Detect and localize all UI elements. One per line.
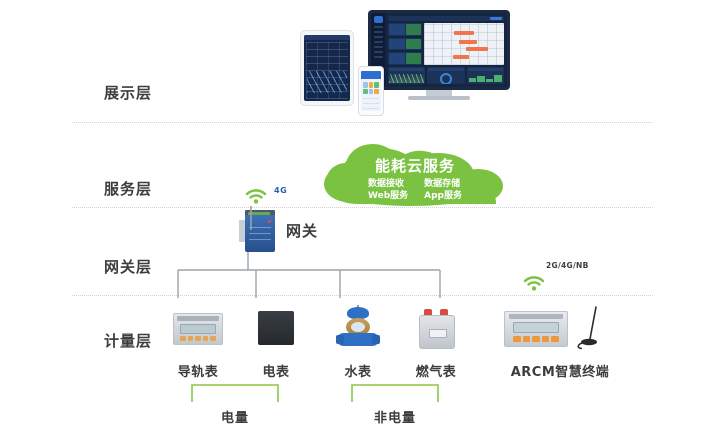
arcm-display [513,322,559,333]
gas-meter-icon [398,305,474,357]
dashboard-stat-cards [388,23,422,65]
meter-gas: 燃气表 [398,305,474,380]
arcm-device-body [504,311,568,347]
phone-icon-grid [363,82,379,94]
gateway-label: 网关 [286,220,318,241]
nav-line [374,46,383,48]
widget-header [389,68,424,71]
layer-divider-display-service [72,122,653,123]
monitor-device [368,10,510,100]
stat-tile [389,39,405,50]
meter-electricity: 电表 [238,305,314,380]
wifi-signal-icon [244,186,268,204]
arcm-terminal-strip [509,314,563,319]
stat-tile [406,53,422,64]
app-tile [363,89,368,95]
gas-body-group [419,309,453,347]
app-tile [374,82,379,88]
widget-gauge [427,67,464,84]
stat-tile [406,24,422,35]
stat-card [388,23,422,36]
phone-body [358,66,384,116]
nav-line [374,36,383,38]
arcm-buttons [513,336,559,342]
widget-header [468,68,503,71]
gateway-cloud-link [248,206,254,230]
map-marker [459,40,477,44]
nav-line [374,56,383,58]
meter-label-electricity: 电表 [238,361,314,380]
meter-din-rail: 导轨表 [160,305,236,380]
antenna-icon [576,305,606,351]
gateway-meter-connector-tree [170,252,470,298]
cloud-column-left: 数据接收 Web服务 [368,178,408,202]
category-label-non-electric: 非电量 [350,407,440,426]
gateway-uplink-tag: 4G [274,186,287,195]
din-buttons [180,336,216,341]
dashboard-topbar [388,16,504,21]
wifi-signal-icon [522,273,546,291]
phone-screen [361,71,381,111]
dashboard-logo-icon [374,16,383,23]
dashboard-body [385,13,507,87]
widget-header [428,68,463,71]
dashboard-map-panel [424,23,504,65]
panel-body [258,311,294,345]
meter-label-gas: 燃气表 [398,361,474,380]
arcm-terminal-label: ARCM智慧终端 [500,361,620,380]
nav-line [374,51,383,53]
gas-housing [419,315,455,349]
bar-series [469,75,502,82]
phone-list-rows [363,97,379,109]
water-pipe-body [337,333,379,346]
din-display [180,324,216,334]
stat-tile [406,39,422,50]
nav-line [374,41,383,43]
layer-label-service: 服务层 [104,178,194,199]
tablet-line-chart [307,71,347,93]
meter-water: 水表 [320,305,396,380]
stat-tile [389,53,405,64]
map-marker [453,55,469,59]
water-body-group [335,307,381,351]
gateway-status-led [268,220,271,223]
layer-label-display: 展示层 [104,82,194,103]
app-tile [369,82,374,88]
gas-readout [429,329,447,338]
stat-card [388,38,422,51]
bracket-shapes [170,382,500,404]
architecture-diagram: 展示层 服务层 网关层 计量层 [0,0,715,443]
widget-trend-chart [388,67,425,84]
gateway-node: 4G 网关 [238,186,368,252]
panel-meter-icon [238,305,314,357]
water-meter-icon [320,305,396,357]
tablet-body [300,30,354,106]
tablet-screen [304,35,350,101]
app-tile [363,82,368,88]
cloud-item-web-service: Web服务 [368,190,408,202]
category-brackets: 电量 非电量 [170,382,500,438]
tablet-topbar [304,35,350,40]
app-tile [369,89,374,95]
cloud-title: 能耗云服务 [320,155,510,176]
monitor-bezel [368,10,510,90]
arcm-terminal-icon: 2G/4G/NB [500,305,620,357]
meter-label-din-rail: 导轨表 [160,361,236,380]
cloud-item-app-service: App服务 [424,190,462,202]
cloud-item-data-receive: 数据接收 [368,178,408,190]
meter-label-water: 水表 [320,361,396,380]
din-body [173,313,223,345]
arcm-uplink-tag: 2G/4G/NB [546,261,589,270]
monitor-screen [371,13,507,87]
monitor-stand-base [408,96,470,100]
widget-bar-chart [467,67,504,84]
stat-card [388,52,422,65]
cloud-item-data-storage: 数据存储 [424,178,462,190]
stat-tile [389,24,405,35]
din-terminal-strip [177,316,219,321]
nav-line [374,26,383,28]
map-marker [454,31,474,35]
category-label-electric: 电量 [190,407,280,426]
phone-app-header [361,71,381,79]
gauge-icon [440,73,452,84]
map-marker [466,47,488,51]
display-layer-devices [300,8,540,120]
dashboard-middle [388,23,504,65]
arcm-terminal-node: 2G/4G/NB ARCM智慧终端 [500,305,620,380]
dashboard-widgets [388,67,504,84]
nav-line [374,31,383,33]
sparkline [389,74,424,83]
smartphone-device [358,66,384,116]
app-tile [374,89,379,95]
din-rail-meter-icon [160,305,236,357]
cloud-column-right: 数据存储 App服务 [424,178,462,202]
tablet-device [300,30,354,106]
